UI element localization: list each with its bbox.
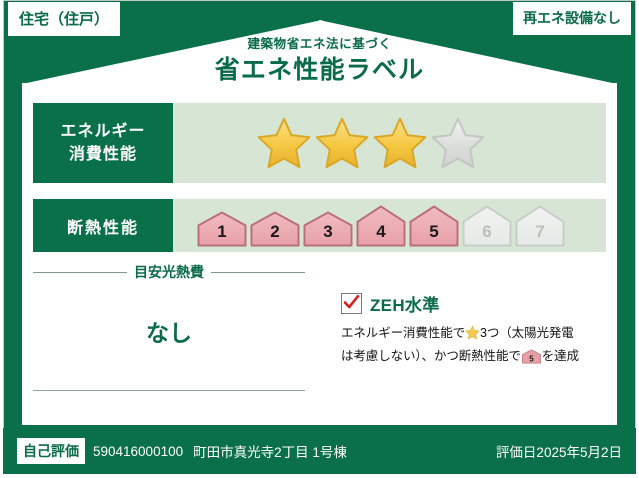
rule-left <box>33 272 127 273</box>
utility-cost-heading: 目安光熱費 <box>33 262 305 282</box>
utility-cost-section: 目安光熱費 なし <box>33 262 305 348</box>
insulation-performance-panel: 1234567 <box>173 199 606 252</box>
inline-level-number: 5 <box>529 355 534 364</box>
insulation-level-1: 1 <box>197 211 247 247</box>
energy-label-line1: エネルギー <box>60 120 145 143</box>
star-rating <box>257 116 485 170</box>
star-empty-icon <box>431 116 485 170</box>
page-title: 省エネ性能ラベル <box>0 55 639 86</box>
check-icon <box>343 294 360 311</box>
star-filled-icon <box>257 116 311 170</box>
zeh-desc-part1: エネルギー消費性能で <box>341 326 465 340</box>
insulation-level-number: 5 <box>409 222 459 242</box>
inline-star-icon <box>465 325 480 346</box>
energy-performance-row: エネルギー 消費性能 <box>33 103 606 183</box>
energy-performance-panel <box>173 103 606 183</box>
insulation-level-7: 7 <box>515 205 565 247</box>
building-type-tab: 住宅（住戸） <box>8 2 120 36</box>
insulation-level-number: 6 <box>462 222 512 242</box>
cost-section-bottom-rule <box>33 390 305 391</box>
insulation-level-5: 5 <box>409 205 459 247</box>
zeh-desc-part2: 3つ（太陽光発電 <box>480 326 574 340</box>
insulation-level-number: 1 <box>197 222 247 242</box>
insulation-level-number: 4 <box>356 222 406 242</box>
star-filled-icon <box>373 116 427 170</box>
zeh-standard-description: エネルギー消費性能で 3つ（太陽光発電 は考慮しない）、かつ断熱性能で 5 を達… <box>341 323 609 371</box>
zeh-desc-part4: を達成 <box>542 349 579 363</box>
insulation-performance-row: 断熱性能 1234567 <box>33 199 606 252</box>
zeh-desc-part3: は考慮しない）、かつ断熱性能で <box>341 349 521 363</box>
zeh-standard-section: ZEH水準 エネルギー消費性能で 3つ（太陽光発電 は考慮しない）、かつ断熱性能… <box>341 291 609 371</box>
utility-cost-heading-text: 目安光熱費 <box>134 262 204 282</box>
energy-performance-label: 住宅（住戸） 再エネ設備なし 建築物省エネ法に基づく 省エネ性能ラベル エネルギ… <box>0 0 639 478</box>
insulation-level-4: 4 <box>356 205 406 247</box>
label-footer: 自己評価 590416000100 町田市真光寺2丁目 1号棟 評価日2025年… <box>3 428 636 474</box>
insulation-level-number: 3 <box>303 222 353 242</box>
insulation-level-6: 6 <box>462 205 512 247</box>
label-title-block: 建築物省エネ法に基づく 省エネ性能ラベル <box>0 38 639 86</box>
building-address: 町田市真光寺2丁目 1号棟 <box>193 441 347 461</box>
renewable-energy-tab: 再エネ設備なし <box>513 2 631 35</box>
self-evaluation-badge: 自己評価 <box>17 438 85 464</box>
insulation-performance-label: 断熱性能 <box>33 199 173 252</box>
zeh-standard-header: ZEH水準 <box>341 291 609 316</box>
zeh-standard-title: ZEH水準 <box>370 291 440 316</box>
insulation-level-2: 2 <box>250 211 300 247</box>
insulation-level-number: 2 <box>250 222 300 242</box>
building-id: 590416000100 <box>93 444 183 459</box>
energy-label-line2: 消費性能 <box>69 143 137 166</box>
star-filled-icon <box>315 116 369 170</box>
insulation-level-scale: 1234567 <box>197 199 565 252</box>
utility-cost-value: なし <box>33 314 305 348</box>
insulation-level-3: 3 <box>303 211 353 247</box>
evaluation-date: 評価日2025年5月2日 <box>496 441 622 461</box>
rule-right <box>211 272 305 273</box>
inline-level-badge: 5 <box>522 349 541 370</box>
energy-performance-label: エネルギー 消費性能 <box>33 103 173 183</box>
insulation-level-number: 7 <box>515 222 565 242</box>
label-subtitle: 建築物省エネ法に基づく <box>0 38 639 52</box>
zeh-checkbox <box>341 293 362 314</box>
